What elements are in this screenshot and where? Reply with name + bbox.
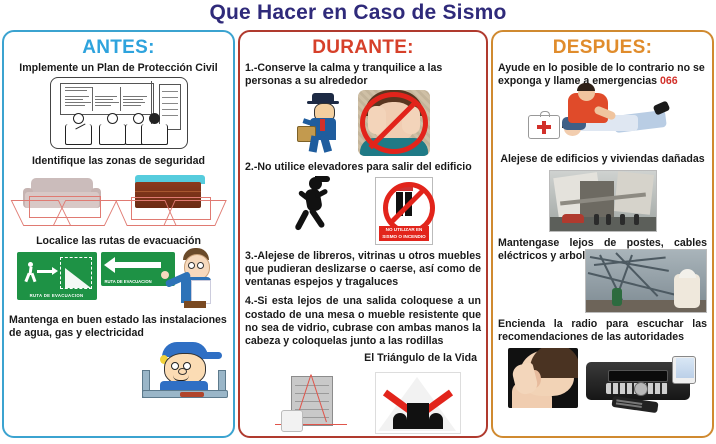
radio-player-illustration: [586, 356, 698, 408]
panel-despues: DESPUES: Ayude en lo posible de lo contr…: [491, 30, 714, 438]
shelf-triangle-of-life-illustration: [265, 368, 357, 434]
fallen-power-lines-photo: [585, 249, 707, 313]
worker-pointing-icon: [169, 246, 221, 308]
evacuation-signs-row: RUTA DE EVACUACION RUTA DE EVACUACION: [9, 252, 228, 308]
durante-item-2-text: 2.-No utilice elevadores para salir del …: [245, 161, 481, 174]
panel-despues-heading: DESPUES:: [493, 37, 712, 59]
plumber-utilities-icon: [140, 340, 228, 402]
durante-item-2-images: NO UTILIZAR EN SISMO O INCENDIO: [245, 177, 481, 245]
despues-item-2-text: Alejese de edificios y viviendas dañadas: [498, 153, 707, 166]
first-aid-kit-icon: [528, 115, 560, 139]
infographic-page: Que Hacer en Caso de Sismo ANTES: Implem…: [0, 0, 716, 444]
running-person-icon: [293, 177, 335, 233]
first-aid-row: [498, 91, 707, 149]
antes-item-4-text: Mantenga en buen estado las instalacione…: [9, 314, 228, 340]
panel-antes: ANTES: Implemente un Plan de Protección …: [2, 30, 235, 438]
elevator-sign-line-1: NO UTILIZAR EN: [386, 227, 423, 232]
plan-board-icon: [60, 83, 154, 115]
civil-protection-plan-illustration: [50, 77, 188, 149]
panel-despues-body: Ayude en lo posible de lo contrario no s…: [493, 62, 712, 408]
first-aid-cpr-illustration: [528, 91, 678, 149]
sign-caption-1: RUTA DE EVACUACION: [17, 293, 97, 298]
plumber-row: [9, 340, 228, 402]
panel-durante-heading: DURANTE:: [240, 37, 486, 59]
durante-item-1-images: [245, 90, 481, 156]
durante-item-3-text: 3.-Alejese de libreros, vitrinas u otros…: [245, 250, 481, 290]
triangle-of-life-diagram: [375, 372, 461, 434]
despues-item-1-text: Ayude en lo posible de lo contrario no s…: [498, 62, 707, 88]
antes-item-2-text: Identifique las zonas de seguridad: [9, 155, 228, 168]
sign-caption-2: RUTA DE EVACUACION: [105, 279, 152, 284]
safe-zone-images-row: [9, 170, 228, 228]
elevator-sign-line-2: SISMO O INCENDIO: [382, 234, 425, 239]
panel-durante: DURANTE: 1.-Conserve la calma y tranquil…: [238, 30, 488, 438]
person-listening-icon: [99, 113, 126, 145]
antes-item-1-text: Implemente un Plan de Protección Civil: [9, 62, 228, 75]
collapsed-building-photo: [549, 170, 657, 232]
despues-item-4-text: Encienda la radio para escuchar las reco…: [498, 318, 707, 344]
panel-antes-body: Implemente un Plan de Protección Civil: [4, 62, 233, 402]
page-title: Que Hacer en Caso de Sismo: [0, 0, 716, 26]
panel-antes-heading: ANTES:: [4, 37, 233, 59]
person-presenting-icon: [65, 113, 92, 145]
emergency-number: 066: [660, 75, 678, 87]
durante-item-1-text: 1.-Conserve la calma y tranquilice a las…: [245, 62, 481, 88]
sofa-safe-zone-illustration: [15, 170, 117, 228]
person-dark-hair-icon: [141, 113, 168, 145]
no-panic-photo: [358, 90, 430, 156]
listening-ear-photo: [508, 348, 578, 408]
elevator-sign-caption: NO UTILIZAR EN SISMO O INCENDIO: [379, 226, 429, 240]
chest-safe-zone-illustration: [121, 170, 223, 228]
durante-item-4-text: 4.-Si esta lejos de una salida coloquese…: [245, 295, 481, 348]
evacuation-route-sign-arrow-icon: RUTA DE EVACUACION: [101, 252, 175, 286]
no-elevator-sign: NO UTILIZAR EN SISMO O INCENDIO: [375, 177, 433, 245]
damaged-buildings-row: [498, 170, 707, 232]
panel-durante-body: 1.-Conserve la calma y tranquilice a las…: [240, 62, 486, 434]
triangle-of-life-caption: El Triángulo de la Vida: [245, 352, 481, 365]
radio-row: [498, 348, 707, 408]
evacuation-route-sign-stairs-icon: RUTA DE EVACUACION: [17, 252, 97, 300]
calm-businessman-icon: [296, 92, 348, 154]
durante-item-4-images: [245, 368, 481, 434]
